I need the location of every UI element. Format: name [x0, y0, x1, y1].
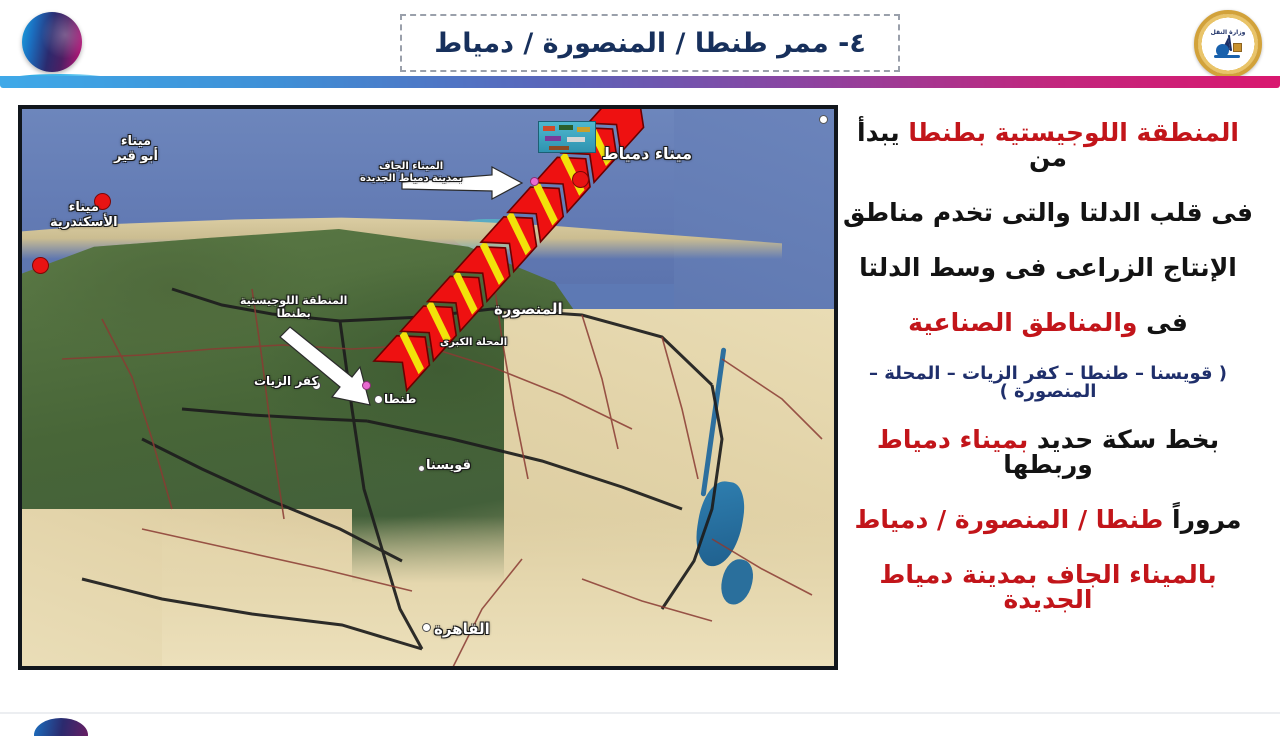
tanta-logistics-arrow-icon: [280, 327, 370, 405]
label-kafr-el-zayat: كفر الزيات: [254, 375, 318, 389]
damietta-port-basin: [538, 121, 596, 153]
marker-tanta-logistics[interactable]: [362, 381, 371, 390]
label-alexandria-port: ميناءالأسكندرية: [50, 201, 118, 231]
desc-line-7-red: طنطا / المنصورة / دمياط: [854, 505, 1163, 534]
label-mahalla: المحلة الكبرى: [440, 337, 507, 349]
desc-line-3: الإنتاج الزراعى فى وسط الدلتا: [838, 255, 1258, 280]
slide-root: ٤- ممر طنطا / المنصورة / دمياط وزارة الن…: [0, 0, 1280, 736]
desc-line-4-red: والمناطق الصناعية: [908, 308, 1137, 337]
label-tanta: طنطا: [384, 393, 416, 407]
map-corner-marker: [819, 115, 828, 124]
callout-arrows: [22, 109, 834, 666]
label-dry-port: الميناء الجافبمدينة دمياط الجديدة: [360, 161, 462, 184]
description-panel: المنطقة اللوجيستية بطنطا يبدأ من فى قلب …: [838, 120, 1258, 642]
marker-alexandria-port[interactable]: [32, 257, 49, 274]
marker-quesna[interactable]: [418, 465, 425, 472]
slide-header: ٤- ممر طنطا / المنصورة / دمياط وزارة الن…: [0, 0, 1280, 92]
slide-title-box: ٤- ممر طنطا / المنصورة / دمياط: [400, 14, 900, 72]
label-abu-qir-port: ميناءأبو قير: [114, 135, 158, 165]
logo-emblem-icon: [1214, 38, 1242, 58]
sphere-icon: [22, 12, 82, 72]
desc-line-1: المنطقة اللوجيستية بطنطا يبدأ من: [838, 120, 1258, 170]
label-damietta-port: ميناء دمياط: [602, 145, 692, 163]
footer-sphere-icon: [34, 718, 88, 736]
desc-line-5-cities: ( قويسنا – طنطا – كفر الزيات – المحلة – …: [838, 365, 1258, 401]
desc-line-7-black: مروراً: [1172, 505, 1242, 534]
desc-line-4-black: فى: [1146, 308, 1188, 337]
desc-line-8: بالميناء الجاف بمدينة دمياط الجديدة: [838, 562, 1258, 612]
desc-line-2: فى قلب الدلتا والتى تخدم مناطق: [838, 200, 1258, 225]
map-canvas: ميناءأبو قير ميناءالأسكندرية ميناء دمياط…: [22, 109, 834, 666]
label-tanta-logistics-zone: المنطقة اللوجيستيةبطنطا: [240, 295, 347, 320]
logo-inner: وزارة النقل: [1207, 23, 1249, 65]
marker-damietta-port[interactable]: [572, 171, 589, 188]
header-gradient-bar: [0, 76, 1280, 88]
desc-line-4: فى والمناطق الصناعية: [838, 310, 1258, 335]
corridor-map[interactable]: ميناءأبو قير ميناءالأسكندرية ميناء دمياط…: [18, 105, 838, 670]
label-quesna: قويسنا: [426, 459, 471, 474]
desc-line-6: بخط سكة حديد بميناء دمياط وربطها: [838, 427, 1258, 477]
desc-line-7: مروراً طنطا / المنصورة / دمياط: [838, 507, 1258, 532]
desc-line-1-red: المنطقة اللوجيستية بطنطا: [908, 118, 1239, 147]
page-title: ٤- ممر طنطا / المنصورة / دمياط: [434, 28, 866, 59]
label-cairo: القاهرة: [434, 621, 490, 638]
ministry-of-transport-logo-icon: وزارة النقل: [1194, 10, 1262, 78]
desc-line-6-b: وربطها: [1003, 450, 1093, 479]
footer-divider: [0, 712, 1280, 714]
marker-dry-port[interactable]: [530, 177, 539, 186]
marker-tanta[interactable]: [374, 395, 383, 404]
label-mansoura: المنصورة: [494, 301, 563, 318]
marker-cairo[interactable]: [422, 623, 431, 632]
